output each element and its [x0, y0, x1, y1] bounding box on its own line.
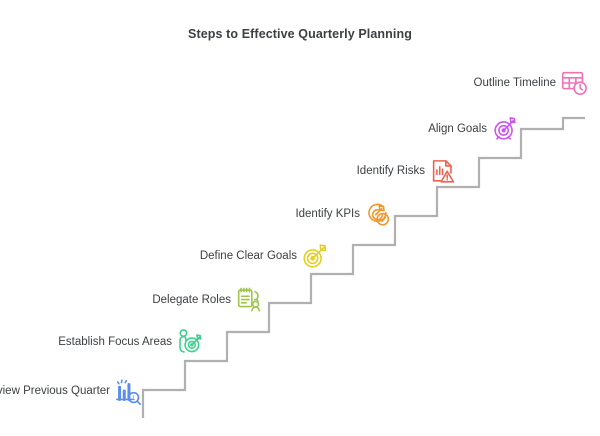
- step-align-goals[interactable]: Align Goals: [428, 114, 520, 144]
- step-establish-focus-areas[interactable]: Establish Focus Areas: [57, 327, 205, 357]
- notepad-person-icon: [234, 285, 264, 315]
- step-identify-risks[interactable]: Identify Risks: [357, 156, 458, 186]
- step-identify-kpis[interactable]: Identify KPIs: [295, 199, 393, 229]
- document-warning-icon: [428, 156, 458, 186]
- step-outline-timeline[interactable]: Outline Timeline: [474, 68, 589, 98]
- step-label: Establish Focus Areas: [58, 335, 172, 349]
- step-label: Delegate Roles: [152, 293, 231, 307]
- step-label: Identify Risks: [357, 164, 425, 178]
- bar-chart-magnifier-icon: 1: [113, 376, 143, 406]
- step-define-clear-goals[interactable]: Define Clear Goals: [210, 241, 330, 271]
- svg-text:1: 1: [132, 396, 136, 402]
- target-dart-icon: [300, 241, 330, 271]
- target-arrow-icon: [490, 114, 520, 144]
- step-label: Align Goals: [428, 122, 487, 136]
- step-label: Define Clear Goals: [200, 249, 297, 263]
- step-label: Review Previous Quarter: [0, 384, 110, 398]
- step-review-previous-quarter[interactable]: Review Previous Quarter 1: [0, 376, 143, 406]
- person-target-icon: [175, 327, 205, 357]
- target-check-icon: [363, 199, 393, 229]
- step-label: Identify KPIs: [295, 207, 360, 221]
- step-label: Outline Timeline: [474, 76, 556, 90]
- infographic-canvas: Steps to Effective Quarterly Planning Re…: [0, 0, 600, 436]
- calendar-clock-icon: [559, 68, 589, 98]
- step-delegate-roles[interactable]: Delegate Roles: [152, 285, 264, 315]
